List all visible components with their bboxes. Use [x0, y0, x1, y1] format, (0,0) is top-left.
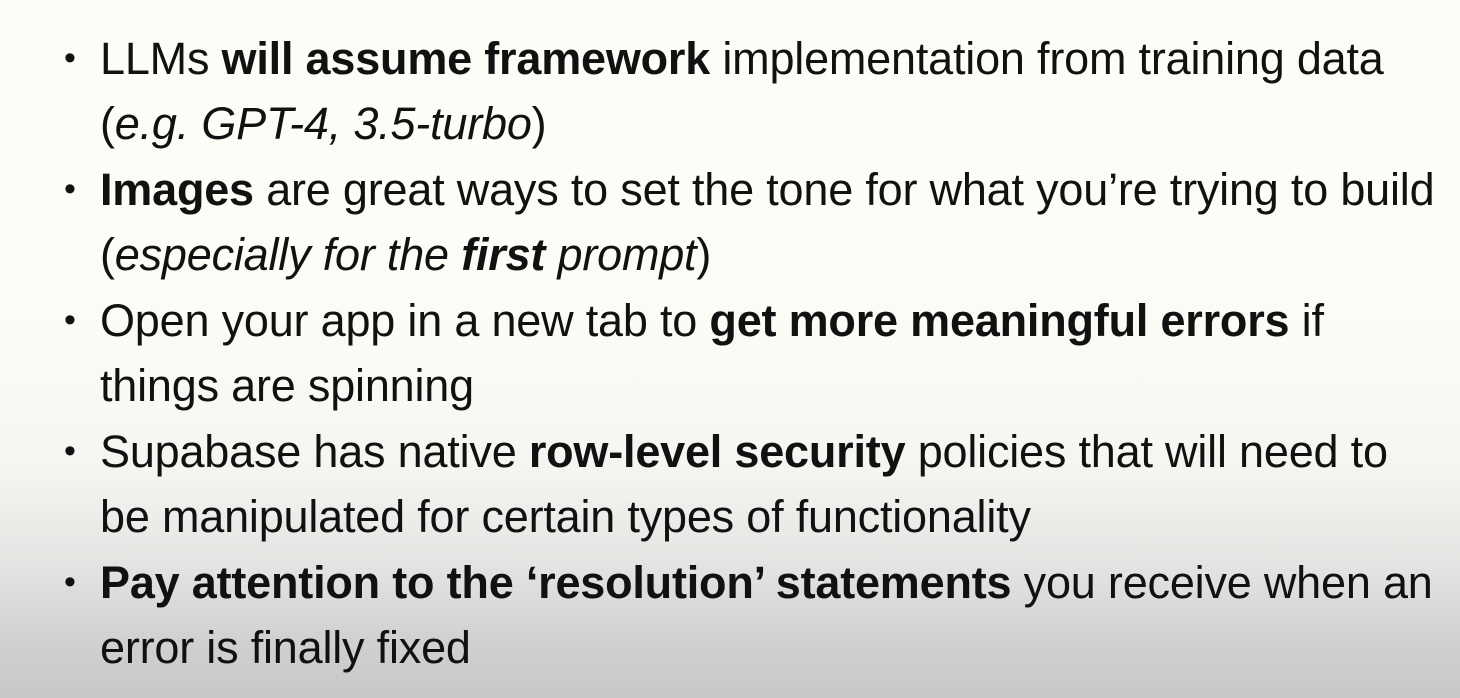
bullet-point-icon: • [64, 157, 84, 222]
bullet-text-resolution-statements: Pay attention to the ‘resolution’ statem… [100, 550, 1442, 680]
text-run: e.g. GPT-4, 3.5-turbo [115, 98, 532, 149]
bullet-text-images-set-tone: Images are great ways to set the tone fo… [100, 157, 1442, 287]
bullet-point-icon: • [64, 419, 84, 484]
bullet-text-llm-framework-assumption: LLMs will assume framework implementatio… [100, 26, 1442, 156]
bullet-text-supabase-row-level-security: Supabase has native row-level security p… [100, 419, 1442, 549]
text-run: LLMs [100, 33, 222, 84]
bullet-text-open-new-tab-errors: Open your app in a new tab to get more m… [100, 288, 1442, 418]
text-run: ) [532, 98, 547, 149]
text-run: first [461, 229, 545, 280]
text-run: prompt [545, 229, 696, 280]
list-item: • Pay attention to the ‘resolution’ stat… [0, 550, 1460, 680]
text-run: get more meaningful errors [709, 295, 1289, 346]
list-item: • LLMs will assume framework implementat… [0, 26, 1460, 156]
text-run: especially for the [115, 229, 461, 280]
bullet-point-icon: • [64, 288, 84, 353]
text-run: Images [100, 164, 254, 215]
bullet-point-icon: • [64, 26, 84, 91]
text-run: will assume framework [222, 33, 711, 84]
text-run: ) [696, 229, 711, 280]
list-item: • Supabase has native row-level security… [0, 419, 1460, 549]
text-run: row-level security [529, 426, 906, 477]
list-item: • Images are great ways to set the tone … [0, 157, 1460, 287]
text-run: Supabase has native [100, 426, 529, 477]
bullet-list: • LLMs will assume framework implementat… [0, 26, 1460, 681]
bullet-point-icon: • [64, 550, 84, 615]
text-run: Open your app in a new tab to [100, 295, 709, 346]
slide-canvas: • LLMs will assume framework implementat… [0, 0, 1460, 698]
list-item: • Open your app in a new tab to get more… [0, 288, 1460, 418]
text-run: Pay attention to the ‘resolution’ statem… [100, 557, 1011, 608]
